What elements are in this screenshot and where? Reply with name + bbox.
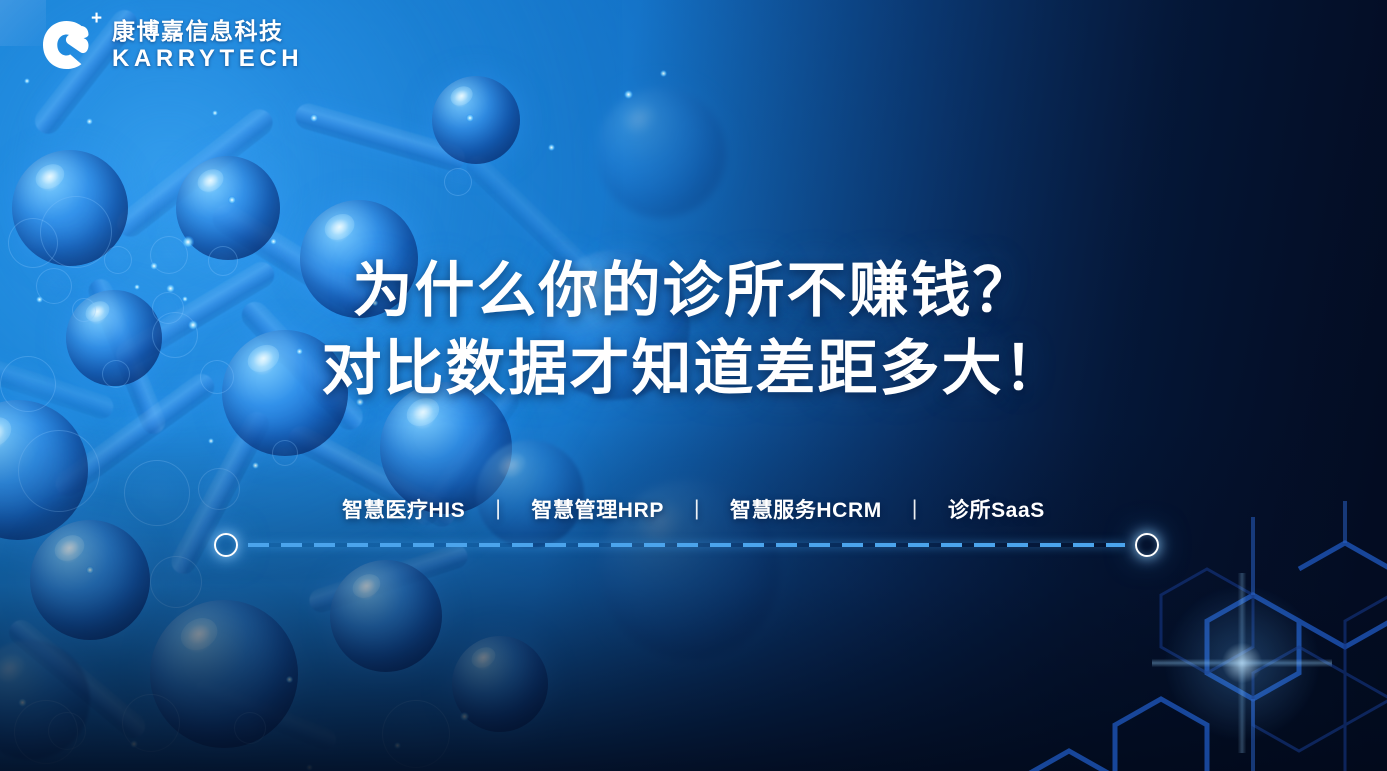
service-item-hrp: 智慧管理HRP (531, 494, 664, 524)
service-separator: | (694, 497, 700, 521)
brand-name-en: KARRYTECH (112, 45, 303, 72)
headline-line-2: 对比数据才知道差距多大！ (0, 330, 1387, 408)
service-separator: | (495, 497, 501, 521)
service-item-hcrm: 智慧服务HCRM (730, 494, 882, 524)
plus-icon: + (88, 11, 105, 28)
brand-logo[interactable]: + 康博嘉信息科技 KARRYTECH (36, 14, 303, 76)
service-item-saas: 诊所SaaS (948, 494, 1045, 524)
headline: 为什么你的诊所不赚钱？ 对比数据才知道差距多大！ (0, 252, 1387, 408)
hexagon-grid-decoration (957, 501, 1387, 771)
circle-endpoint-icon-right (1135, 533, 1159, 557)
service-item-his: 智慧医疗HIS (342, 494, 465, 524)
service-separator: | (912, 497, 918, 521)
dashed-line (248, 543, 1125, 547)
promo-banner: + 康博嘉信息科技 KARRYTECH 为什么你的诊所不赚钱？ 对比数据才知道差… (0, 0, 1387, 771)
circle-endpoint-icon-left (214, 533, 238, 557)
service-list: 智慧医疗HIS | 智慧管理HRP | 智慧服务HCRM | 诊所SaaS (0, 494, 1387, 524)
brand-name-cn: 康博嘉信息科技 (112, 18, 303, 45)
dashed-divider (214, 543, 1159, 547)
karrytech-k-logo-icon: + (36, 14, 98, 76)
headline-line-1: 为什么你的诊所不赚钱？ (0, 252, 1387, 330)
